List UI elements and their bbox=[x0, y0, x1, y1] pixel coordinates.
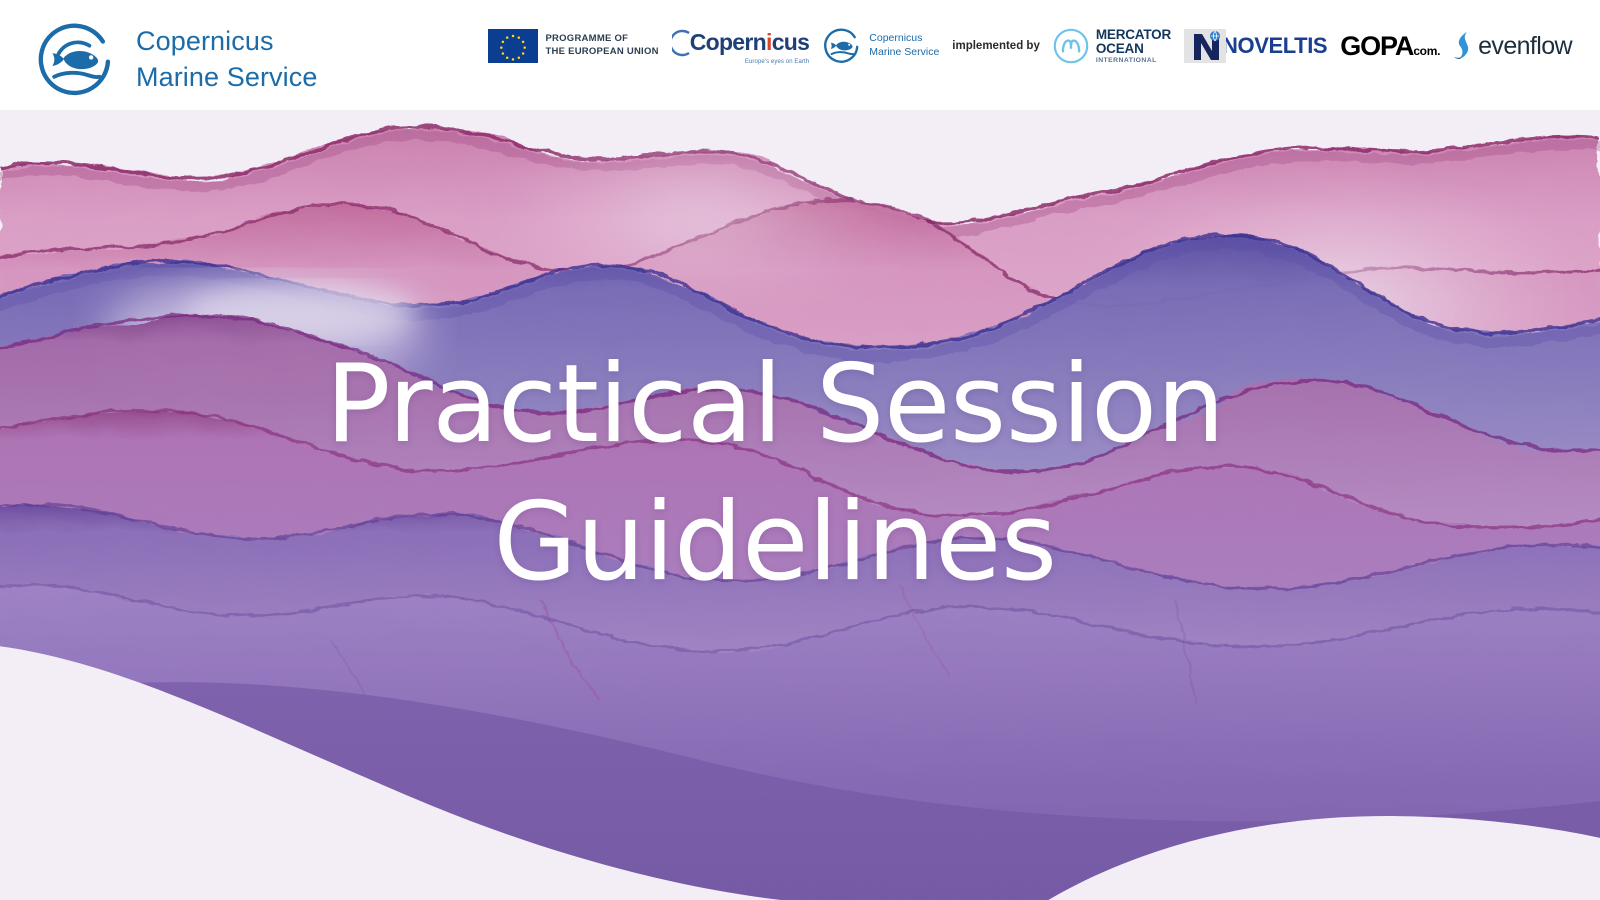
cms-small-wordmark: Copernicus Marine Service bbox=[869, 32, 939, 59]
evenflow-wordmark: evenflow bbox=[1478, 34, 1572, 59]
mercator-ocean-logo[interactable]: MERCATOR OCEAN INTERNATIONAL bbox=[1053, 28, 1171, 64]
fish-in-circle-icon bbox=[822, 26, 862, 66]
eu-flag-icon bbox=[488, 29, 538, 63]
mercator-line-1: MERCATOR bbox=[1096, 28, 1171, 42]
fish-in-circle-icon bbox=[34, 18, 118, 102]
eu-caption: PROGRAMME OF THE EUROPEAN UNION bbox=[545, 33, 658, 59]
copernicus-logo[interactable]: Copernicus Europe's eyes on Earth bbox=[672, 28, 810, 65]
mercator-m-icon bbox=[1053, 28, 1089, 64]
brand-wordmark: Copernicus Marine Service bbox=[136, 24, 317, 95]
evenflow-logo[interactable]: evenflow bbox=[1453, 30, 1572, 62]
noveltis-logo[interactable]: NOVELTIS bbox=[1184, 29, 1327, 63]
partner-logo-bar: PROGRAMME OF THE EUROPEAN UNION Copernic… bbox=[488, 18, 1572, 74]
slide-title: Practical Session Guidelines bbox=[0, 336, 1550, 612]
brand-line-2: Marine Service bbox=[136, 60, 317, 96]
slide-title-line-2: Guidelines bbox=[0, 474, 1550, 612]
noveltis-n-icon bbox=[1184, 29, 1226, 63]
slide-title-line-1: Practical Session bbox=[0, 336, 1550, 474]
copernicus-wordmark-pre: Copern bbox=[690, 29, 766, 55]
mercator-line-3: INTERNATIONAL bbox=[1096, 57, 1171, 64]
copernicus-tagline: Europe's eyes on Earth bbox=[745, 59, 809, 65]
copernicus-wordmark: Copernicus bbox=[690, 31, 810, 54]
brand-line-1: Copernicus bbox=[136, 24, 317, 60]
eu-caption-line-2: THE EUROPEAN UNION bbox=[545, 46, 658, 59]
gopa-wordmark: GOPA bbox=[1340, 31, 1413, 61]
eu-caption-line-1: PROGRAMME OF bbox=[545, 33, 658, 46]
noveltis-wordmark: NOVELTIS bbox=[1222, 35, 1327, 57]
copernicus-marine-service-small-logo[interactable]: Copernicus Marine Service bbox=[822, 26, 939, 66]
gopa-logo[interactable]: GOPAcom. bbox=[1340, 33, 1440, 60]
cms-small-line-2: Marine Service bbox=[869, 46, 939, 60]
gopa-wordmark-suffix: com. bbox=[1413, 44, 1440, 58]
mercator-line-2: OCEAN bbox=[1096, 42, 1171, 56]
evenflow-wave-icon bbox=[1453, 30, 1476, 62]
slide-canvas: Copernicus Marine Service PROGRAMME OF bbox=[0, 0, 1600, 900]
implemented-by-label: implemented by bbox=[952, 40, 1040, 52]
copernicus-wordmark-post: cus bbox=[772, 29, 810, 55]
cms-small-line-1: Copernicus bbox=[869, 32, 939, 46]
copernicus-swoosh-icon bbox=[672, 28, 691, 58]
european-union-logo[interactable]: PROGRAMME OF THE EUROPEAN UNION bbox=[488, 29, 658, 63]
mercator-wordmark: MERCATOR OCEAN INTERNATIONAL bbox=[1096, 28, 1171, 64]
copernicus-marine-service-logo[interactable]: Copernicus Marine Service bbox=[34, 18, 317, 102]
